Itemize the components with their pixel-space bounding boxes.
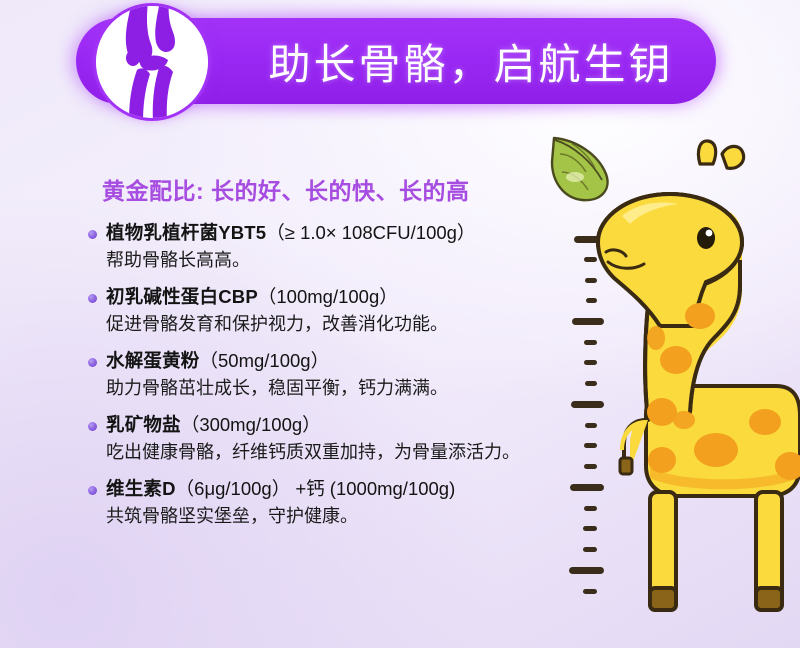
- page-title: 助长骨骼，启航生钥: [246, 18, 696, 104]
- giraffe-illustration: [550, 120, 800, 648]
- ingredient-heading: 初乳碱性蛋白CBP（100mg/100g）: [106, 284, 556, 310]
- list-item: 初乳碱性蛋白CBP（100mg/100g） 促进骨骼发育和保护视力，改善消化功能…: [86, 284, 556, 338]
- ingredient-dose: （6μg/100g） +钙 (1000mg/100g): [176, 478, 456, 499]
- bullet-dot-icon: [88, 486, 97, 495]
- bullet-dot-icon: [88, 294, 97, 303]
- leaf-icon: [552, 138, 608, 200]
- ingredient-description: 共筑骨骼坚实堡垒，守护健康。: [106, 502, 556, 530]
- bullet-dot-icon: [88, 230, 97, 239]
- ingredient-dose: （300mg/100g）: [181, 414, 321, 435]
- ingredient-name: 水解蛋黄粉: [106, 350, 200, 371]
- ingredient-name: 维生素D: [106, 478, 176, 499]
- ingredient-name: 初乳碱性蛋白CBP: [106, 286, 258, 307]
- list-item: 植物乳植杆菌YBT5（≥ 1.0× 108CFU/100g） 帮助骨骼长高高。: [86, 220, 556, 274]
- section-subtitle: 黄金配比: 长的好、长的快、长的高: [102, 172, 556, 206]
- bullet-dot-icon: [88, 422, 97, 431]
- ingredient-heading: 植物乳植杆菌YBT5（≥ 1.0× 108CFU/100g）: [106, 220, 556, 246]
- ingredient-list-section: 黄金配比: 长的好、长的快、长的高 植物乳植杆菌YBT5（≥ 1.0× 108C…: [86, 172, 556, 540]
- ingredient-dose: （100mg/100g）: [258, 286, 398, 307]
- ingredient-description: 帮助骨骼长高高。: [106, 246, 556, 274]
- height-ruler-icon: [569, 236, 604, 594]
- ingredient-description: 促进骨骼发育和保护视力，改善消化功能。: [106, 310, 556, 338]
- ingredient-name: 植物乳植杆菌YBT5: [106, 222, 266, 243]
- ingredient-heading: 乳矿物盐（300mg/100g）: [106, 412, 556, 438]
- ingredient-dose: （≥ 1.0× 108CFU/100g）: [266, 222, 475, 243]
- bullet-dot-icon: [88, 358, 97, 367]
- ingredient-dose: （50mg/100g）: [200, 350, 330, 371]
- knee-joint-icon: [96, 6, 208, 118]
- ingredient-heading: 维生素D（6μg/100g） +钙 (1000mg/100g): [106, 476, 556, 502]
- ingredient-description: 助力骨骼茁壮成长，稳固平衡，钙力满满。: [106, 374, 556, 402]
- giraffe-icon: [598, 141, 800, 610]
- list-item: 水解蛋黄粉（50mg/100g） 助力骨骼茁壮成长，稳固平衡，钙力满满。: [86, 348, 556, 402]
- ingredient-heading: 水解蛋黄粉（50mg/100g）: [106, 348, 556, 374]
- poster-root: 助长骨骼，启航生钥: [0, 0, 800, 648]
- header-banner: 助长骨骼，启航生钥: [76, 18, 716, 104]
- ingredient-description: 吃出健康骨骼，纤维钙质双重加持，为骨量添活力。: [106, 438, 556, 466]
- list-item: 乳矿物盐（300mg/100g） 吃出健康骨骼，纤维钙质双重加持，为骨量添活力。: [86, 412, 556, 466]
- ingredient-name: 乳矿物盐: [106, 414, 181, 435]
- list-item: 维生素D（6μg/100g） +钙 (1000mg/100g) 共筑骨骼坚实堡垒…: [86, 476, 556, 530]
